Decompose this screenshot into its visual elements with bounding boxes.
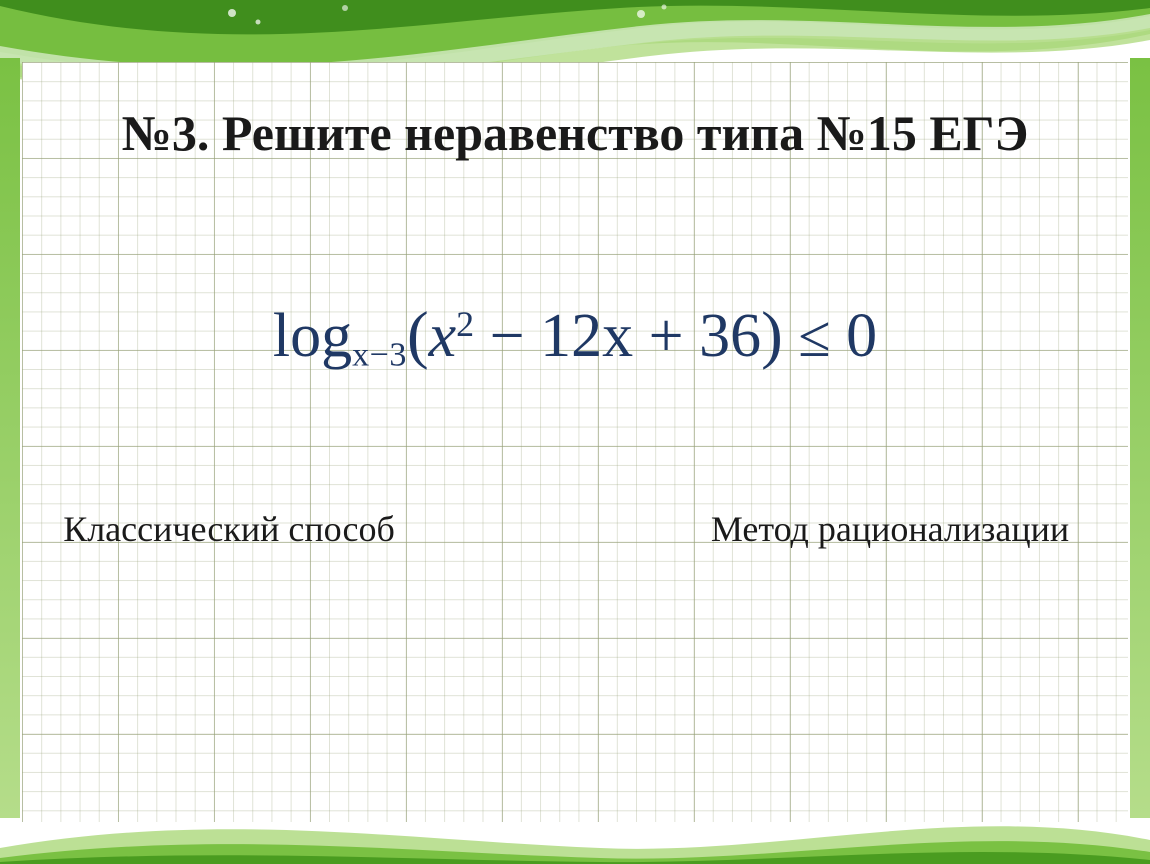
method-label-rationalization: Метод рационализации <box>640 508 1140 550</box>
math-formula: logx−3(x2 − 12x + 36) ≤ 0 <box>0 298 1150 375</box>
method-label-classic: Классический способ <box>14 508 444 550</box>
formula-argument-rest: − 12x + 36 <box>474 302 761 370</box>
formula-log-word: log <box>273 302 352 370</box>
slide-content: №3. Решите неравенство типа №15 ЕГЭ logx… <box>0 0 1150 864</box>
formula-open-paren: ( <box>407 299 429 371</box>
slide-canvas: №3. Решите неравенство типа №15 ЕГЭ logx… <box>0 0 1150 864</box>
page-title: №3. Решите неравенство типа №15 ЕГЭ <box>0 104 1150 162</box>
formula-right-hand-side: 0 <box>846 302 877 370</box>
formula-argument-exponent: 2 <box>456 304 474 344</box>
formula-argument-variable: x <box>429 302 457 370</box>
formula-log-base: x−3 <box>352 337 407 374</box>
formula-relation-sign: ≤ <box>798 304 830 369</box>
formula-close-paren: ) <box>761 299 783 371</box>
